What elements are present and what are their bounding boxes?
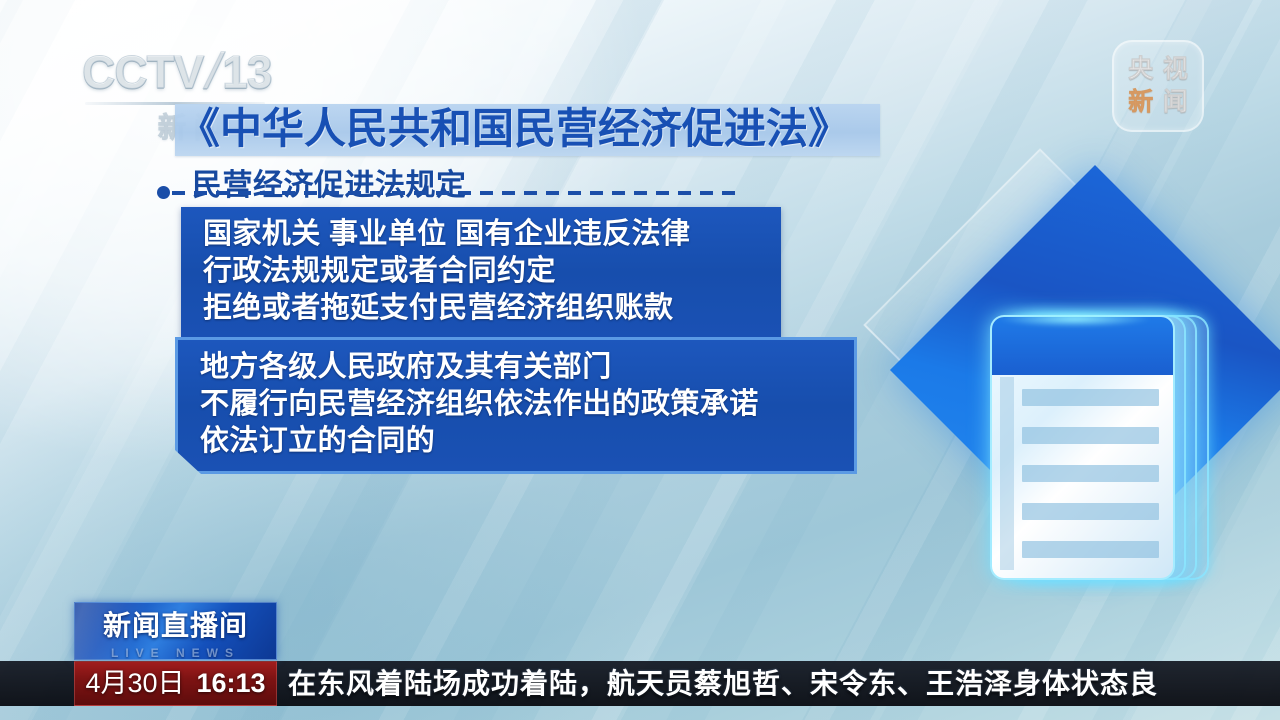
content-line: 拒绝或者拖延支付民营经济组织账款 bbox=[203, 290, 761, 327]
dashed-divider bbox=[172, 191, 742, 195]
watermark-char-3: 新 bbox=[1124, 87, 1158, 119]
watermark-char-1: 央 bbox=[1124, 54, 1158, 86]
program-brand-box: 新闻直播间 LIVE NEWS bbox=[74, 602, 277, 660]
broadcast-date: 4月30日 bbox=[85, 670, 184, 697]
cctv-logo-number: 13 bbox=[222, 49, 271, 95]
document-top-glow bbox=[1000, 311, 1150, 327]
content-line: 地方各级人民政府及其有关部门 bbox=[200, 349, 834, 386]
program-subtitle: LIVE NEWS bbox=[75, 646, 276, 660]
document-text-line bbox=[1022, 389, 1159, 406]
document-sheet-stack bbox=[990, 315, 1195, 590]
content-line: 依法订立的合同的 bbox=[200, 423, 834, 460]
datetime-box: 4月30日 16:13 bbox=[74, 661, 277, 706]
program-title: 新闻直播间 bbox=[75, 612, 276, 640]
broadcast-time: 16:13 bbox=[197, 670, 266, 697]
cctv-logo-letters: CCTV bbox=[82, 49, 203, 95]
watermark-char-2: 视 bbox=[1159, 54, 1193, 86]
content-line: 行政法规规定或者合同约定 bbox=[203, 253, 761, 290]
document-text-line bbox=[1022, 427, 1159, 444]
page-title: 《中华人民共和国民营经济促进法》 bbox=[178, 100, 938, 158]
bullet-dot-icon bbox=[157, 186, 170, 199]
broadcast-frame: CCTV / 13 新闻 央 视 新 闻 bbox=[0, 0, 1280, 720]
document-sheet-front bbox=[990, 315, 1175, 580]
cctv-logo-wordmark: CCTV / 13 bbox=[82, 46, 312, 96]
content-block-2: 地方各级人民政府及其有关部门 不履行向民营经济组织依法作出的政策承诺 依法订立的… bbox=[175, 337, 857, 474]
content-block-1: 国家机关 事业单位 国有企业违反法律 行政法规规定或者合同约定 拒绝或者拖延支付… bbox=[181, 207, 781, 338]
watermark-char-4: 闻 bbox=[1159, 87, 1193, 119]
content-line: 不履行向民营经济组织依法作出的政策承诺 bbox=[200, 386, 834, 423]
document-margin-bar bbox=[1000, 377, 1014, 570]
document-text-line bbox=[1022, 465, 1159, 482]
cctv-news-watermark: 央 视 新 闻 bbox=[1112, 40, 1204, 132]
content-line: 国家机关 事业单位 国有企业违反法律 bbox=[203, 216, 761, 253]
document-stack-graphic bbox=[895, 195, 1280, 640]
headline-subtitle: 民营经济促进法规定 bbox=[192, 160, 467, 204]
document-text-line bbox=[1022, 541, 1159, 558]
news-ticker-text: 在东风着陆场成功着陆，航天员蔡旭哲、宋令东、王浩泽身体状态良 bbox=[288, 661, 1158, 706]
document-text-line bbox=[1022, 503, 1159, 520]
